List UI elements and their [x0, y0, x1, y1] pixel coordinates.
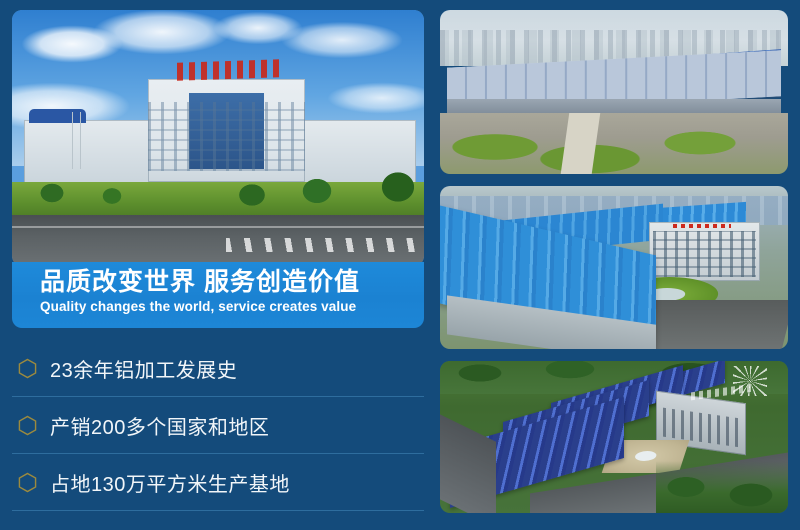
front-road	[12, 215, 424, 266]
feature-item-markets[interactable]: 产销200多个国家和地区	[12, 397, 424, 454]
main-office-building	[148, 79, 305, 181]
landscaping-trees	[12, 171, 424, 212]
left-column: 品质改变世界 服务创造价值 Quality changes the world,…	[12, 10, 424, 522]
company-profile-banner: 品质改变世界 服务创造价值 Quality changes the world,…	[0, 0, 800, 530]
hexagon-icon	[18, 472, 37, 493]
right-column	[440, 10, 788, 522]
feature-item-area[interactable]: 占地130万平方米生产基地	[12, 454, 424, 511]
industrial-park-rendering-photo	[440, 361, 788, 513]
sunburst-icon	[733, 366, 767, 396]
feature-label: 占地130万平方米生产基地	[50, 468, 290, 497]
feature-list: 23余年铝加工发展史 产销200多个国家和地区 占地130万平方米生产基地	[12, 340, 424, 511]
slogan-subline-en: Quality changes the world, service creat…	[40, 297, 424, 317]
slogan-headline-cn: 品质改变世界 服务创造价值	[40, 267, 424, 297]
hexagon-icon	[18, 415, 37, 436]
hexagon-icon	[18, 358, 37, 379]
flagpoles-icon	[70, 112, 103, 168]
feature-item-history[interactable]: 23余年铝加工发展史	[12, 340, 424, 397]
aerial-factory-wide-photo	[440, 10, 788, 174]
feature-label: 产销200多个国家和地区	[50, 411, 269, 440]
company-headquarters-photo	[12, 10, 424, 266]
aerial-blue-roof-factory-photo	[440, 186, 788, 349]
feature-label: 23余年铝加工发展史	[50, 354, 237, 383]
slogan-banner: 品质改变世界 服务创造价值 Quality changes the world,…	[12, 262, 424, 328]
foreground-treeline	[656, 461, 788, 513]
office-tower	[649, 222, 760, 281]
window-grid	[148, 102, 305, 172]
landscaped-grounds	[440, 113, 788, 174]
